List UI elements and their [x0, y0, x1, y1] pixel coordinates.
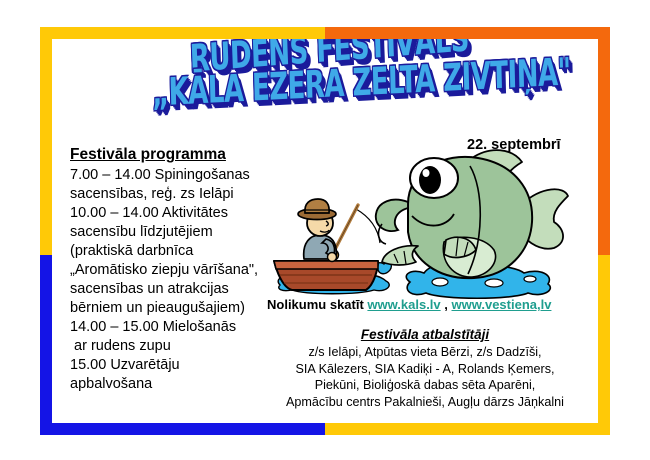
frame-bar-right-bottom — [598, 255, 610, 435]
sponsors-section: Festivāla atbalstītāji z/s Ielāpi, Atpūt… — [252, 327, 598, 411]
poster: RUDENS FESTIVĀLS „KĀLA EZERA ZELTA ZIVTI… — [0, 0, 650, 460]
rules-links-line: Nolikumu skatīt www.kals.lv , www.vestie… — [267, 297, 551, 312]
link-vestiena-lv[interactable]: www.vestiena,lv — [452, 297, 552, 312]
links-separator: , — [441, 297, 452, 312]
title-line-1: RUDENS FESTIVĀLS — [189, 39, 469, 82]
poster-canvas: RUDENS FESTIVĀLS „KĀLA EZERA ZELTA ZIVTI… — [52, 39, 598, 423]
sponsor-line: SIA Kālezers, SIA Kadiķi - A, Rolands Ķe… — [252, 361, 598, 378]
sponsor-line: z/s Ielāpi, Atpūtas vieta Bērzi, z/s Dad… — [252, 344, 598, 361]
frame-bar-right-top — [598, 27, 610, 255]
frame-bar-top-right — [325, 27, 610, 39]
program-line: „Aromātisko ziepju vārīšana", — [70, 261, 306, 280]
title-line-2: „KĀLA EZERA ZELTA ZIVTIŅA" — [151, 51, 571, 116]
sponsor-line: Apmācību centrs Pakalnieši, Augļu dārzs … — [252, 394, 598, 411]
program-line: sacensības, reģ. zs Ielāpi — [70, 185, 306, 204]
program-line: 10.00 – 14.00 Aktivitātes — [70, 204, 306, 223]
program-line: (praktiskā darbnīca — [70, 242, 306, 261]
sponsor-line: Piekūni, Bioliģoskā dabas sēta Aparēni, — [252, 377, 598, 394]
links-prefix: Nolikumu skatīt — [267, 297, 367, 312]
link-kals-lv[interactable]: www.kals.lv — [367, 297, 440, 312]
frame-bar-bottom-left — [40, 423, 325, 435]
frame-bar-bottom-right — [325, 423, 610, 435]
poster-title: RUDENS FESTIVĀLS „KĀLA EZERA ZELTA ZIVTI… — [152, 45, 552, 127]
frame-bar-left-top — [40, 27, 52, 255]
program-line: sacensību līdzjutējiem — [70, 223, 306, 242]
program-heading: Festivāla programma — [70, 146, 306, 164]
frame-bar-left-bottom — [40, 255, 52, 435]
frame-bar-top-left — [40, 27, 325, 39]
program-line: 7.00 – 14.00 Spiningošanas — [70, 166, 306, 185]
sponsors-heading: Festivāla atbalstītāji — [252, 327, 598, 342]
